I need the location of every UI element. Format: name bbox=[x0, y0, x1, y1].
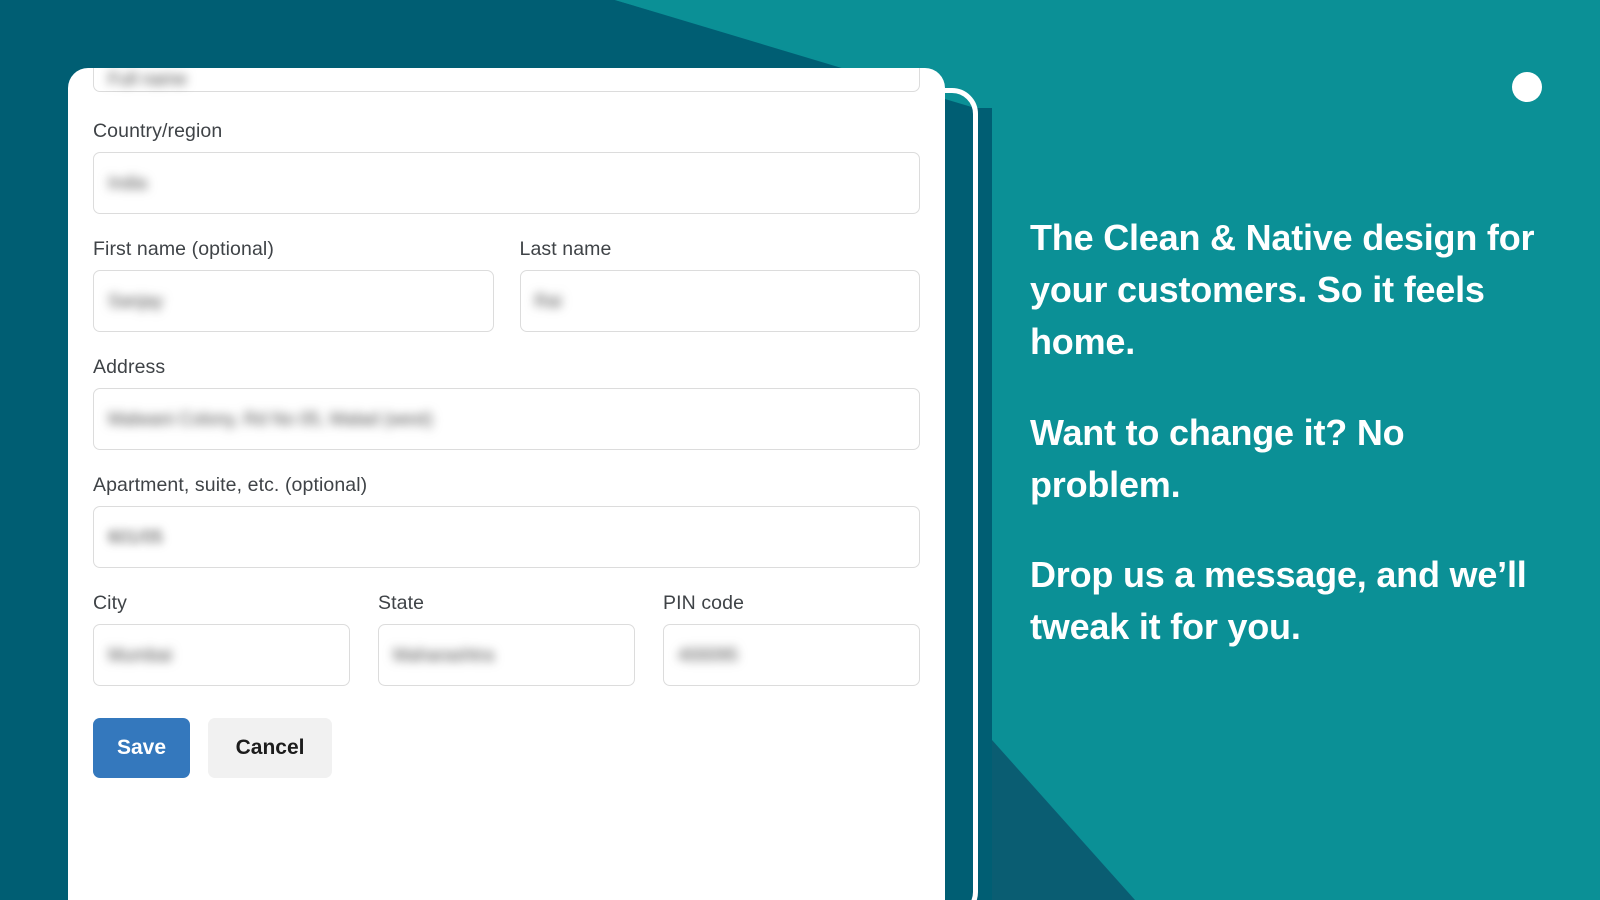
value-pin-code: 400095 bbox=[678, 645, 738, 666]
label-address: Address bbox=[93, 356, 920, 379]
input-country-region[interactable]: India bbox=[93, 152, 920, 214]
address-form-card: Full name Country/region India First nam… bbox=[68, 68, 945, 900]
input-state[interactable]: Maharashtra bbox=[378, 624, 635, 686]
spacer bbox=[93, 456, 920, 474]
white-dot-icon bbox=[1512, 72, 1542, 102]
label-pin-code: PIN code bbox=[663, 592, 920, 615]
clipped-input-value: Full name bbox=[108, 69, 187, 90]
field-clipped-top: Full name bbox=[93, 68, 920, 92]
value-country-region: India bbox=[108, 173, 147, 194]
label-city: City bbox=[93, 592, 350, 615]
field-address: Address Malwani Colony, Rd No 05, Malad … bbox=[93, 356, 920, 450]
input-city[interactable]: Mumbai bbox=[93, 624, 350, 686]
field-pin-code: PIN code 400095 bbox=[663, 592, 920, 686]
copy-paragraph-3: Drop us a message, and we’ll tweak it fo… bbox=[1030, 549, 1545, 653]
input-first-name[interactable]: Sanjay bbox=[93, 270, 494, 332]
copy-paragraph-1: The Clean & Native design for your custo… bbox=[1030, 212, 1545, 369]
spacer bbox=[93, 98, 920, 120]
input-address[interactable]: Malwani Colony, Rd No 05, Malad (west) bbox=[93, 388, 920, 450]
spacer bbox=[93, 338, 920, 356]
save-button[interactable]: Save bbox=[93, 718, 190, 778]
input-pin-code[interactable]: 400095 bbox=[663, 624, 920, 686]
spacer bbox=[93, 574, 920, 592]
value-first-name: Sanjay bbox=[108, 291, 163, 312]
label-last-name: Last name bbox=[520, 238, 921, 261]
marketing-copy-panel: The Clean & Native design for your custo… bbox=[1030, 212, 1545, 653]
row-city-state-pin: City Mumbai State Maharashtra PIN code 4… bbox=[93, 592, 920, 692]
field-apartment: Apartment, suite, etc. (optional) 601/05 bbox=[93, 474, 920, 568]
value-apartment: 601/05 bbox=[108, 527, 163, 548]
value-last-name: Rai bbox=[535, 291, 562, 312]
value-state: Maharashtra bbox=[393, 645, 494, 666]
field-country-region: Country/region India bbox=[93, 120, 920, 214]
label-state: State bbox=[378, 592, 635, 615]
row-name: First name (optional) Sanjay Last name R… bbox=[93, 238, 920, 338]
field-last-name: Last name Rai bbox=[520, 238, 921, 332]
spacer bbox=[93, 220, 920, 238]
copy-paragraph-2: Want to change it? No problem. bbox=[1030, 407, 1545, 511]
label-country-region: Country/region bbox=[93, 120, 920, 143]
label-apartment: Apartment, suite, etc. (optional) bbox=[93, 474, 920, 497]
value-city: Mumbai bbox=[108, 645, 172, 666]
screenshot-root: Full name Country/region India First nam… bbox=[0, 0, 1600, 900]
field-first-name: First name (optional) Sanjay bbox=[93, 238, 494, 332]
value-address: Malwani Colony, Rd No 05, Malad (west) bbox=[108, 409, 433, 430]
label-first-name: First name (optional) bbox=[93, 238, 494, 261]
input-apartment[interactable]: 601/05 bbox=[93, 506, 920, 568]
input-last-name[interactable]: Rai bbox=[520, 270, 921, 332]
field-city: City Mumbai bbox=[93, 592, 350, 686]
field-state: State Maharashtra bbox=[378, 592, 635, 686]
cancel-button[interactable]: Cancel bbox=[208, 718, 332, 778]
form-actions: Save Cancel bbox=[93, 718, 920, 778]
clipped-input[interactable]: Full name bbox=[93, 68, 920, 92]
